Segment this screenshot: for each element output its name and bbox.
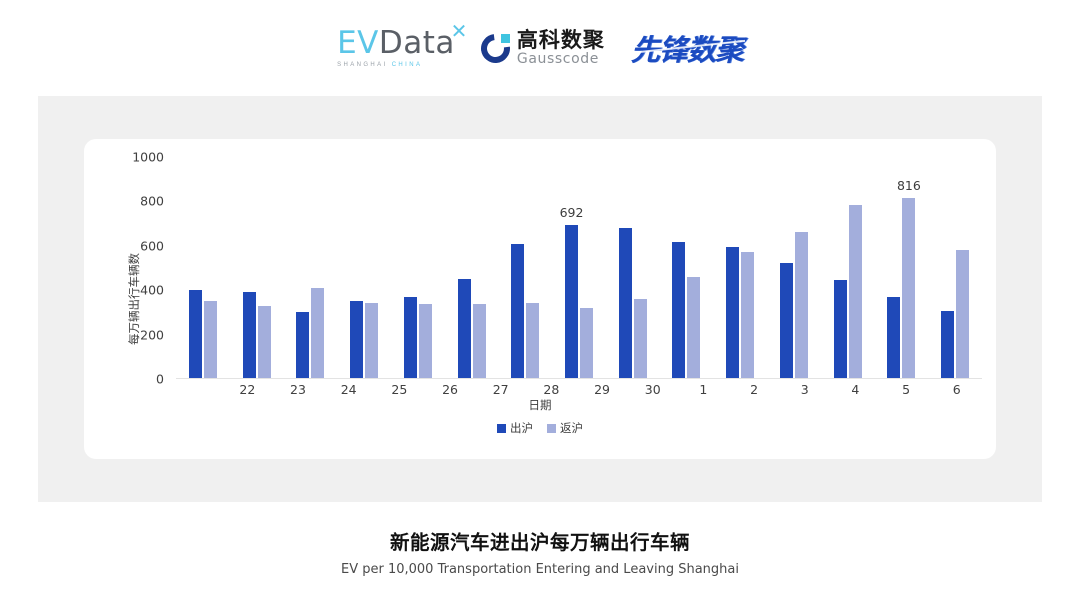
caption-title-cn: 新能源汽车进出沪每万辆出行车辆 [0,526,1080,555]
bar[interactable] [258,306,271,378]
x-axis-tick: 22 [222,382,273,397]
bar-group [767,157,821,378]
evdata-ev-text: EV [337,25,379,61]
plot-area: 692816 222324252627282930123456 [176,157,982,379]
y-axis-tick: 1000 [132,150,164,165]
y-axis-tick: 0 [156,372,164,387]
bar-group [176,157,230,378]
evdata-tagline: SHANGHAI CHINA [337,62,422,68]
bar-group [283,157,337,378]
x-axis-tick: 2 [729,382,780,397]
legend-swatch [497,424,506,433]
bar[interactable] [619,228,632,378]
y-axis-tick: 800 [140,194,164,209]
x-axis-tick: 26 [425,382,476,397]
legend-item[interactable]: 返沪 [547,420,583,436]
bar-group: 692 [552,157,606,378]
gausscode-en-text: Gausscode [517,52,605,66]
logo-bar: EVData ✕ SHANGHAI CHINA 高科数聚 Gausscode 先… [0,0,1080,96]
bar-chart: 每万辆出行车辆数 02004006008001000 692816 222324… [84,139,996,459]
x-axis-tick: 1 [678,382,729,397]
bar[interactable] [941,311,954,378]
plot-area-wrapper: 02004006008001000 692816 222324252627282… [130,157,982,379]
y-axis-tick: 400 [140,283,164,298]
bar[interactable] [887,297,900,378]
bar-group [391,157,445,378]
gausscode-wordmark: 高科数聚 Gausscode [517,30,605,66]
bar[interactable]: 692 [565,225,578,378]
bar[interactable] [419,304,432,378]
chart-card: 每万辆出行车辆数 02004006008001000 692816 222324… [84,139,996,459]
gausscode-mark-icon [481,34,510,63]
legend-swatch [547,424,556,433]
x-axis-tick: 4 [830,382,881,397]
x-axis-tick: 24 [323,382,374,397]
xianfeng-logo: 先锋数聚 [631,27,743,69]
bar[interactable] [204,301,217,378]
bar[interactable] [473,304,486,378]
bar-group [928,157,982,378]
bar-group [606,157,660,378]
x-axis-tick: 30 [627,382,678,397]
bar-group [337,157,391,378]
x-axis-tick: 27 [475,382,526,397]
gausscode-cn-text: 高科数聚 [517,30,605,51]
x-axis-tick: 29 [577,382,628,397]
bar[interactable] [956,250,969,378]
x-axis-tick: 3 [779,382,830,397]
bar-group [821,157,875,378]
x-axis-tick: 23 [273,382,324,397]
bar-groups: 692816 [176,157,982,378]
y-axis-tick: 200 [140,327,164,342]
bar-group [498,157,552,378]
bar[interactable] [458,279,471,378]
chart-panel: 每万辆出行车辆数 02004006008001000 692816 222324… [38,96,1042,502]
caption-block: 新能源汽车进出沪每万辆出行车辆 EV per 10,000 Transporta… [0,526,1080,577]
bar[interactable] [672,242,685,378]
x-axis-tick: 28 [526,382,577,397]
evdata-tagline-country: CHINA [392,62,423,68]
evdata-wordmark: EVData ✕ [337,28,455,59]
bar[interactable] [741,252,754,378]
bar[interactable] [189,290,202,378]
bar-group [713,157,767,378]
bar[interactable] [511,244,524,378]
bar[interactable] [404,297,417,378]
bar[interactable] [687,277,700,378]
bar[interactable] [296,312,309,378]
bar-value-label: 816 [897,178,921,193]
bar[interactable] [526,303,539,378]
bar-group [445,157,499,378]
x-axis-tick: 25 [374,382,425,397]
legend-item[interactable]: 出沪 [497,420,533,436]
bar[interactable] [243,292,256,378]
bar[interactable]: 816 [902,198,915,378]
x-axis-tick: 6 [931,382,982,397]
evdata-data-text: Data [379,25,455,61]
bar[interactable] [580,308,593,378]
evdata-x-icon: ✕ [451,21,468,41]
bar[interactable] [780,263,793,378]
x-axis-ticks: 222324252627282930123456 [222,382,982,397]
gausscode-square-icon [501,34,510,43]
y-axis-ticks: 02004006008001000 [130,157,170,379]
bar-group [230,157,284,378]
gausscode-logo: 高科数聚 Gausscode [481,30,605,66]
evdata-tagline-city: SHANGHAI [337,62,388,68]
evdata-logo: EVData ✕ SHANGHAI CHINA [337,28,455,68]
bar[interactable] [365,303,378,378]
bar[interactable] [834,280,847,378]
bar[interactable] [311,288,324,378]
legend-label: 出沪 [510,420,533,436]
bar[interactable] [795,232,808,378]
chart-legend: 出沪返沪 [84,420,996,436]
bar[interactable] [350,301,363,378]
caption-title-en: EV per 10,000 Transportation Entering an… [0,562,1080,577]
bar-group [660,157,714,378]
bar[interactable] [726,247,739,378]
legend-label: 返沪 [560,420,583,436]
bar-group: 816 [875,157,929,378]
bar-value-label: 692 [560,205,584,220]
x-axis-label: 日期 [84,397,996,413]
y-axis-tick: 600 [140,238,164,253]
bar[interactable] [634,299,647,378]
x-axis-tick: 5 [881,382,932,397]
bar[interactable] [849,205,862,378]
